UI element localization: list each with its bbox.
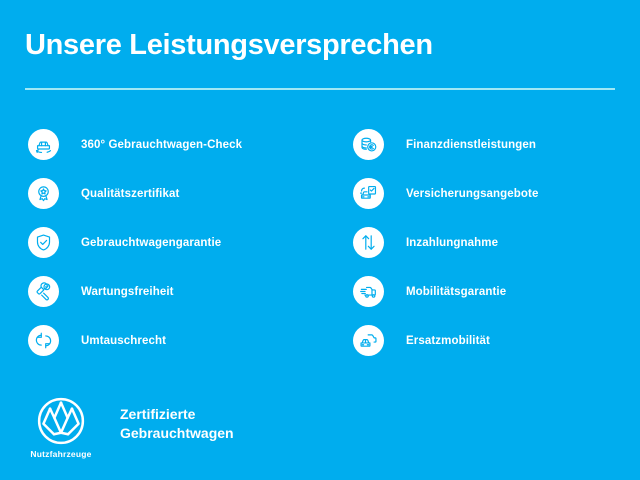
feature-label: Wartungsfreiheit: [81, 286, 174, 298]
feature-item[interactable]: Umtauschrecht: [28, 316, 315, 365]
feature-label: Mobilitätsgarantie: [406, 286, 506, 298]
feature-item[interactable]: Finanzdienstleistungen: [353, 120, 640, 169]
brand-block: Nutzfahrzeuge: [24, 396, 98, 459]
coins-euro-icon: [353, 129, 384, 160]
feature-item[interactable]: Ersatzmobilität: [353, 316, 640, 365]
promo-panel: Unsere Leistungsversprechen 360° Gebrauc…: [0, 0, 640, 480]
feature-item[interactable]: Wartungsfreiheit: [28, 267, 315, 316]
shield-check-icon: [28, 227, 59, 258]
brand-lockup: Nutzfahrzeuge Zertifizierte Gebrauchtwag…: [24, 396, 234, 459]
title-divider: [25, 88, 615, 90]
feature-label: Inzahlungnahme: [406, 237, 498, 249]
feature-item[interactable]: Versicherungsangebote: [353, 169, 640, 218]
header: Unsere Leistungsversprechen: [25, 30, 615, 62]
footer-headline-line2: Gebrauchtwagen: [120, 424, 234, 443]
car-document-icon: [353, 178, 384, 209]
award-rosette-icon: [28, 178, 59, 209]
page-title: Unsere Leistungsversprechen: [25, 30, 615, 62]
footer-headline: Zertifizierte Gebrauchtwagen: [120, 405, 234, 443]
exchange-arrows-icon: [28, 325, 59, 356]
feature-label: 360° Gebrauchtwagen-Check: [81, 139, 242, 151]
feature-label: Umtauschrecht: [81, 335, 166, 347]
features-right-column: Finanzdienstleistungen Versicherungsange…: [315, 120, 640, 365]
feature-item[interactable]: Inzahlungnahme: [353, 218, 640, 267]
arrows-up-down-icon: [353, 227, 384, 258]
two-cars-icon: [353, 325, 384, 356]
wrench-check-icon: [28, 276, 59, 307]
footer-headline-line1: Zertifizierte: [120, 405, 234, 424]
feature-label: Ersatzmobilität: [406, 335, 490, 347]
feature-label: Qualitätszertifikat: [81, 188, 179, 200]
features-grid: 360° Gebrauchtwagen-Check Qualitätszerti…: [0, 120, 640, 365]
vw-logo-icon: [36, 396, 86, 446]
feature-item[interactable]: Qualitätszertifikat: [28, 169, 315, 218]
feature-label: Versicherungsangebote: [406, 188, 538, 200]
brand-subline: Nutzfahrzeuge: [30, 449, 91, 459]
feature-item[interactable]: Gebrauchtwagengarantie: [28, 218, 315, 267]
feature-item[interactable]: Mobilitätsgarantie: [353, 267, 640, 316]
tow-van-icon: [353, 276, 384, 307]
features-left-column: 360° Gebrauchtwagen-Check Qualitätszerti…: [0, 120, 315, 365]
feature-label: Gebrauchtwagengarantie: [81, 237, 221, 249]
car-inspection-icon: [28, 129, 59, 160]
feature-label: Finanzdienstleistungen: [406, 139, 536, 151]
feature-item[interactable]: 360° Gebrauchtwagen-Check: [28, 120, 315, 169]
